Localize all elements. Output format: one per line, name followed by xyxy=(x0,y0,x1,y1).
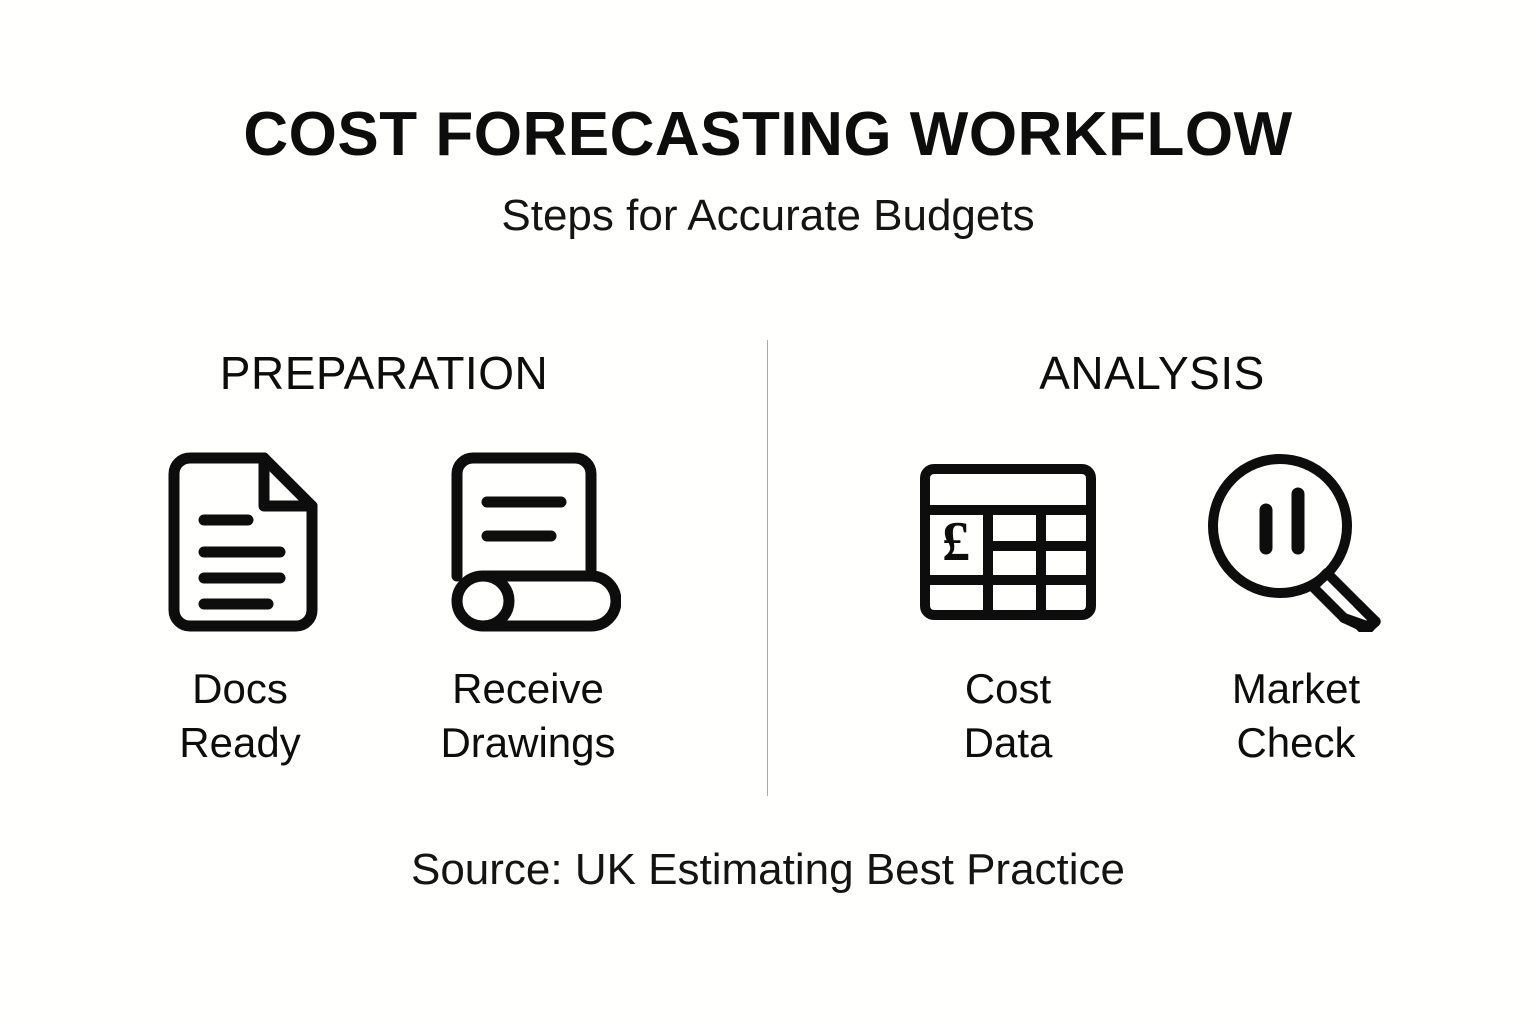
columns-container: PREPARATION Docs Ready xyxy=(0,336,1536,802)
rolled-drawings-icon xyxy=(435,452,621,632)
header: COST FORECASTING WORKFLOW Steps for Accu… xyxy=(0,104,1536,238)
infographic-poster: COST FORECASTING WORKFLOW Steps for Accu… xyxy=(0,0,1536,1024)
step-label: Cost Data xyxy=(964,632,1053,770)
steps-preparation: Docs Ready Receive Drawings xyxy=(135,396,633,770)
step-market-check[interactable]: Market Check xyxy=(1191,452,1401,770)
column-analysis: ANALYSIS £ xyxy=(768,336,1536,770)
step-label: Market Check xyxy=(1232,632,1360,770)
section-title-analysis: ANALYSIS xyxy=(1039,336,1265,396)
column-preparation: PREPARATION Docs Ready xyxy=(0,336,768,770)
document-icon xyxy=(160,452,320,632)
step-label: Receive Drawings xyxy=(440,632,615,770)
currency-symbol: £ xyxy=(942,511,970,573)
page-title: COST FORECASTING WORKFLOW xyxy=(0,104,1536,166)
source-note: Source: UK Estimating Best Practice xyxy=(0,848,1536,892)
cost-table-icon: £ xyxy=(918,452,1098,632)
step-receive-drawings[interactable]: Receive Drawings xyxy=(423,452,633,770)
step-docs-ready[interactable]: Docs Ready xyxy=(135,452,345,770)
magnifier-bar-chart-icon xyxy=(1206,452,1386,632)
page-subtitle: Steps for Accurate Budgets xyxy=(0,166,1536,238)
footer: Source: UK Estimating Best Practice xyxy=(0,848,1536,892)
step-label: Docs Ready xyxy=(179,632,300,770)
step-cost-data[interactable]: £ Cost Data xyxy=(903,452,1113,770)
steps-analysis: £ Cost Data xyxy=(903,396,1401,770)
section-title-preparation: PREPARATION xyxy=(220,336,548,396)
